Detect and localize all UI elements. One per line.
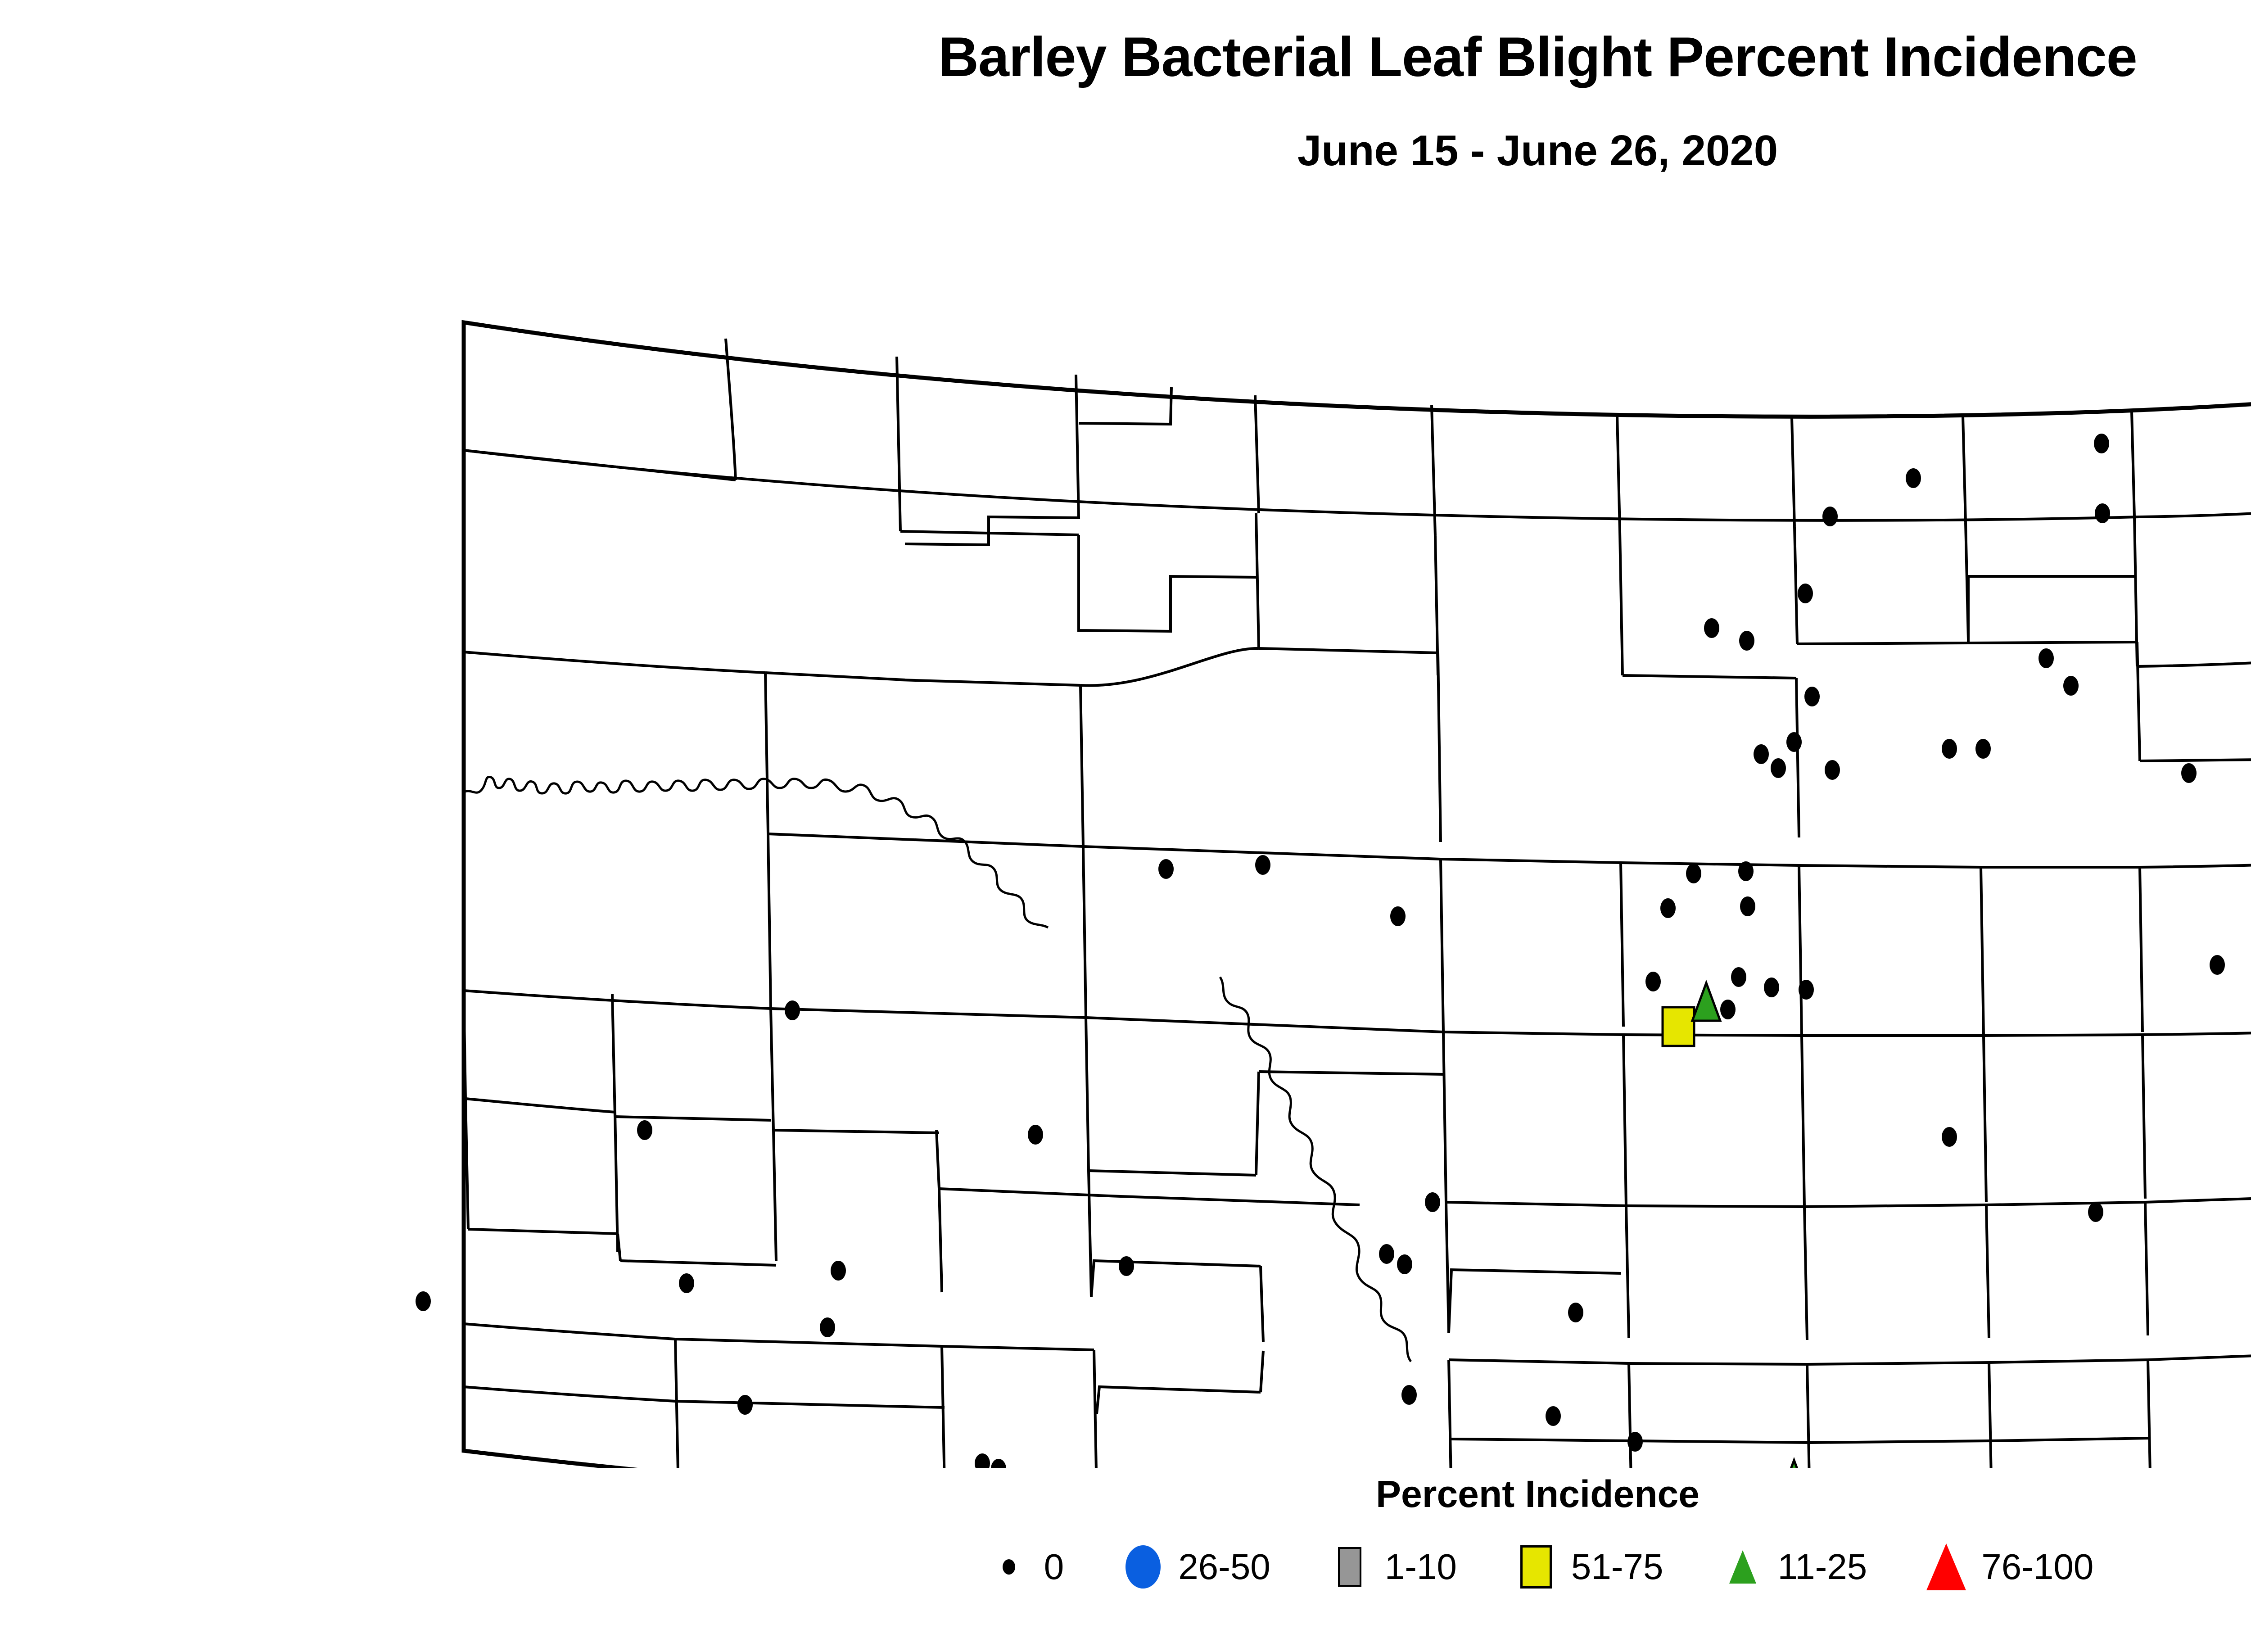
marker-dot[interactable]: [2088, 1202, 2103, 1222]
marker-dot[interactable]: [1546, 1406, 1561, 1426]
marker-dot[interactable]: [2094, 434, 2109, 453]
marker-dot[interactable]: [416, 1291, 431, 1311]
marker-dot[interactable]: [1660, 898, 1676, 918]
marker-dot[interactable]: [1740, 896, 1755, 916]
marker-dot[interactable]: [1158, 859, 1174, 879]
marker-dot[interactable]: [1627, 1432, 1643, 1452]
legend-item-label: 0: [1044, 1546, 1064, 1588]
marker-dot[interactable]: [1798, 584, 1813, 603]
marker-dot[interactable]: [1825, 760, 1840, 780]
state-outline: [464, 322, 2251, 1468]
legend-item[interactable]: 51-75: [1509, 1540, 1663, 1594]
marker-dot[interactable]: [1255, 855, 1270, 875]
page-title: Barley Bacterial Leaf Blight Percent Inc…: [0, 28, 2251, 86]
marker-dot[interactable]: [1686, 864, 1701, 883]
marker-dot[interactable]: [831, 1261, 846, 1281]
marker-dot[interactable]: [1401, 1385, 1417, 1405]
legend-item-label: 11-25: [1778, 1546, 1867, 1588]
legend-item-label: 1-10: [1385, 1546, 1457, 1588]
legend-item[interactable]: 76-100: [1919, 1540, 2093, 1594]
marker-dot[interactable]: [1028, 1125, 1043, 1145]
legend-item-label: 76-100: [1981, 1546, 2093, 1588]
marker-dot[interactable]: [820, 1317, 835, 1337]
marker-dot[interactable]: [1704, 618, 1719, 638]
north-dakota-county-map[interactable]: [0, 171, 2251, 1468]
marker-dot[interactable]: [1975, 739, 1991, 759]
legend-item-label: 51-75: [1571, 1546, 1663, 1588]
marker-dot[interactable]: [1119, 1256, 1134, 1276]
marker-dot[interactable]: [2063, 676, 2079, 696]
legend-triangle-icon: [1729, 1550, 1756, 1584]
marker-dot[interactable]: [1942, 739, 1957, 759]
legend-title: Percent Incidence: [0, 1472, 2251, 1516]
legend-item[interactable]: 11-25: [1716, 1540, 1867, 1594]
marker-dot[interactable]: [1738, 861, 1754, 881]
legend-item-label: 26-50: [1178, 1546, 1270, 1588]
marker-dot[interactable]: [1804, 687, 1820, 706]
marker-dot[interactable]: [1731, 967, 1746, 987]
legend-circle-icon: [1125, 1545, 1161, 1589]
legend-item[interactable]: 1-10: [1323, 1540, 1457, 1594]
marker-square[interactable]: [1663, 1007, 1694, 1046]
marker-dot[interactable]: [2095, 503, 2110, 523]
legend: 026-501-1051-7511-2576-100: [0, 1540, 2251, 1594]
legend-square-icon: [1520, 1545, 1552, 1589]
marker-dot[interactable]: [1906, 468, 1921, 488]
marker-dot[interactable]: [1822, 507, 1838, 526]
marker-dot[interactable]: [1771, 758, 1786, 778]
marker-dot[interactable]: [1942, 1127, 1957, 1147]
marker-dot[interactable]: [637, 1120, 652, 1140]
map-page: Barley Bacterial Leaf Blight Percent Inc…: [0, 0, 2251, 1652]
county-boundaries: [463, 322, 2251, 1468]
marker-dot[interactable]: [1720, 1000, 1736, 1019]
marker-dot[interactable]: [2210, 955, 2225, 975]
marker-dot[interactable]: [1645, 972, 1661, 991]
marker-dot[interactable]: [1754, 744, 1769, 764]
marker-dot[interactable]: [1390, 906, 1406, 926]
marker-dot[interactable]: [1397, 1254, 1412, 1274]
marker-dot[interactable]: [1568, 1303, 1583, 1322]
marker-dot[interactable]: [737, 1395, 753, 1415]
marker-dot[interactable]: [1786, 732, 1802, 752]
legend-triangle-icon: [1926, 1543, 1966, 1590]
legend-item[interactable]: 0: [982, 1540, 1064, 1594]
page-subtitle: June 15 - June 26, 2020: [0, 128, 2251, 174]
marker-dot[interactable]: [1799, 980, 1814, 1000]
marker-dot[interactable]: [2039, 648, 2054, 668]
marker-dot[interactable]: [679, 1273, 694, 1293]
legend-dot-icon: [1003, 1559, 1015, 1575]
marker-dot[interactable]: [1379, 1244, 1394, 1264]
legend-item[interactable]: 26-50: [1116, 1540, 1270, 1594]
marker-dot[interactable]: [2181, 763, 2197, 783]
marker-dot[interactable]: [1425, 1192, 1440, 1212]
marker-dot[interactable]: [785, 1000, 800, 1020]
marker-dot[interactable]: [1739, 631, 1754, 651]
marker-dot[interactable]: [1764, 978, 1779, 997]
legend-square-icon: [1338, 1547, 1361, 1587]
